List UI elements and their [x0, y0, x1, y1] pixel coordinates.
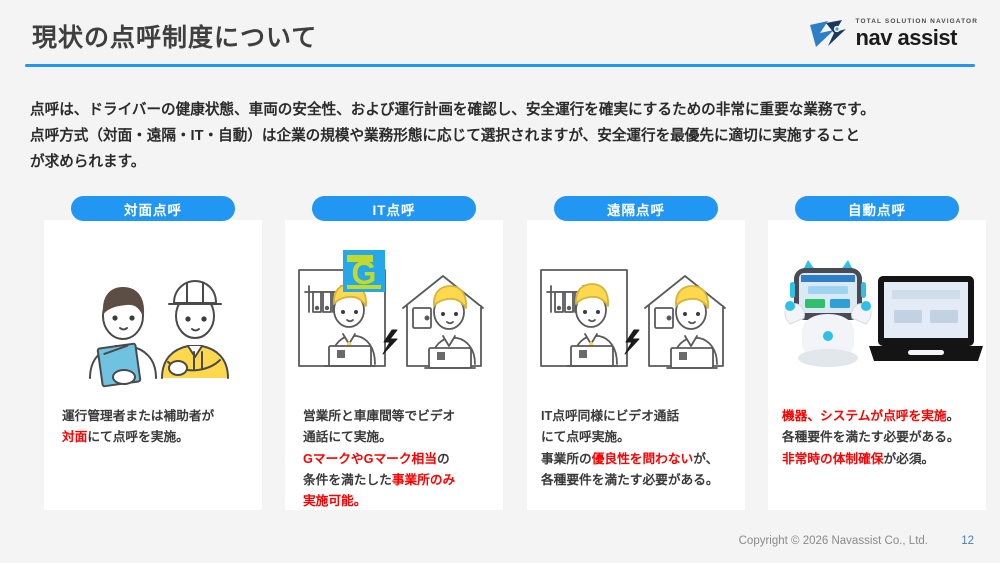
body-text: が、	[693, 452, 718, 466]
card-body-line: 機器、システムが点呼を実施。	[782, 406, 978, 427]
lead-paragraph: 点呼は、ドライバーの健康状態、車両の安全性、および運行計画を確認し、安全運行を確…	[30, 98, 975, 176]
manager-and-worker-icon	[44, 246, 262, 391]
page-title: 現状の点呼制度について	[32, 18, 317, 54]
card-body-line: 条件を満たした事業所のみ	[303, 470, 493, 491]
card-body-line: にて点呼実施。	[541, 427, 737, 448]
robot-and-laptop-icon	[768, 246, 986, 391]
card-body-enkaku: IT点呼同様にビデオ通話にて点呼実施。事業所の優良性を問わないが、各種要件を満た…	[541, 406, 737, 491]
lead-line-2: 点呼方式（対面・遠隔・IT・自動）は企業の規模や業務形態に応じて選択されますが、…	[30, 124, 975, 150]
card-enkaku[interactable]: 遠隔点呼	[527, 220, 745, 510]
card-pill-enkaku: 遠隔点呼	[554, 196, 718, 221]
office-house-videocall-gmark-icon: G	[285, 246, 503, 391]
body-text: 各種要件を満たす必要がある。	[541, 473, 719, 487]
card-body-line: 対面にて点呼を実施。	[62, 427, 252, 448]
card-jidou[interactable]: 自動点呼	[768, 220, 986, 510]
card-pill-taimen: 対面点呼	[71, 196, 235, 221]
card-body-line: 営業所と車庫間等でビデオ	[303, 406, 493, 427]
slide-footer: Copyright © 2026 Navassist Co., Ltd. 12	[0, 533, 1000, 555]
page-number: 12	[961, 535, 974, 547]
card-body-line: 非常時の体制確保が必須。	[782, 449, 978, 470]
title-divider	[25, 64, 975, 67]
emphasis-text: 非常時の体制確保	[782, 452, 884, 466]
card-taimen[interactable]: 対面点呼	[44, 220, 262, 510]
card-body-line: 事業所の優良性を問わないが、	[541, 449, 737, 470]
robot-icon	[785, 260, 871, 367]
body-text: 条件を満たした	[303, 473, 392, 487]
card-pill-it: IT点呼	[312, 196, 476, 221]
card-body-line: IT点呼同様にビデオ通話	[541, 406, 737, 427]
emphasis-text: 優良性を問わない	[592, 452, 694, 466]
card-body-taimen: 運行管理者または補助者が対面にて点呼を実施。	[62, 406, 252, 449]
lead-line-1: 点呼は、ドライバーの健康状態、車両の安全性、および運行計画を確認し、安全運行を確…	[30, 98, 975, 124]
emphasis-text: 事業所のみ	[392, 473, 455, 487]
emphasis-text: 実施可能。	[303, 494, 366, 508]
emphasis-text: 機器、システムが点呼を実施	[782, 409, 947, 423]
office-house-videocall-icon	[527, 246, 745, 391]
logo-name: nav assist	[856, 27, 978, 49]
body-text: が必須。	[884, 452, 935, 466]
slide-header: 現状の点呼制度について TOTAL SOLUTION NAVIGATOR nav…	[0, 0, 1000, 66]
logo-wordmark: TOTAL SOLUTION NAVIGATOR nav assist	[856, 19, 978, 50]
g-mark-badge-icon: G	[343, 250, 385, 292]
lead-line-3: が求められます。	[30, 150, 975, 176]
body-text: IT点呼同様にビデオ通話	[541, 409, 679, 423]
laptop-icon	[869, 276, 983, 361]
body-text: の	[437, 452, 450, 466]
body-text: 通話にて実施。	[303, 430, 392, 444]
method-card-group: 対面点呼	[0, 196, 1000, 516]
card-body-line: 各種要件を満たす必要がある。	[541, 470, 737, 491]
emphasis-text: GマークやGマーク相当	[303, 452, 437, 466]
card-body-it: 営業所と車庫間等でビデオ通話にて実施。GマークやGマーク相当の条件を満たした事業…	[303, 406, 493, 513]
body-text: 。	[947, 409, 960, 423]
body-text: 営業所と車庫間等でビデオ	[303, 409, 455, 423]
emphasis-text: 対面	[62, 430, 87, 444]
card-body-line: 運行管理者または補助者が	[62, 406, 252, 427]
card-body-line: 各種要件を満たす必要がある。	[782, 427, 978, 448]
card-pill-jidou: 自動点呼	[795, 196, 959, 221]
nav-assist-logo-icon	[808, 18, 850, 50]
card-body-jidou: 機器、システムが点呼を実施。各種要件を満たす必要がある。非常時の体制確保が必須。	[782, 406, 978, 470]
card-it[interactable]: IT点呼	[285, 220, 503, 510]
body-text: 運行管理者または補助者が	[62, 409, 214, 423]
body-text: にて点呼実施。	[541, 430, 630, 444]
copyright-text: Copyright © 2026 Navassist Co., Ltd.	[739, 535, 928, 547]
card-body-line: 通話にて実施。	[303, 427, 493, 448]
body-text: 各種要件を満たす必要がある。	[782, 430, 960, 444]
slide: 現状の点呼制度について TOTAL SOLUTION NAVIGATOR nav…	[0, 0, 1000, 563]
card-body-line: 実施可能。	[303, 491, 493, 512]
brand-logo: TOTAL SOLUTION NAVIGATOR nav assist	[808, 16, 978, 52]
body-text: にて点呼を実施。	[87, 430, 189, 444]
body-text: 事業所の	[541, 452, 592, 466]
card-body-line: GマークやGマーク相当の	[303, 449, 493, 470]
